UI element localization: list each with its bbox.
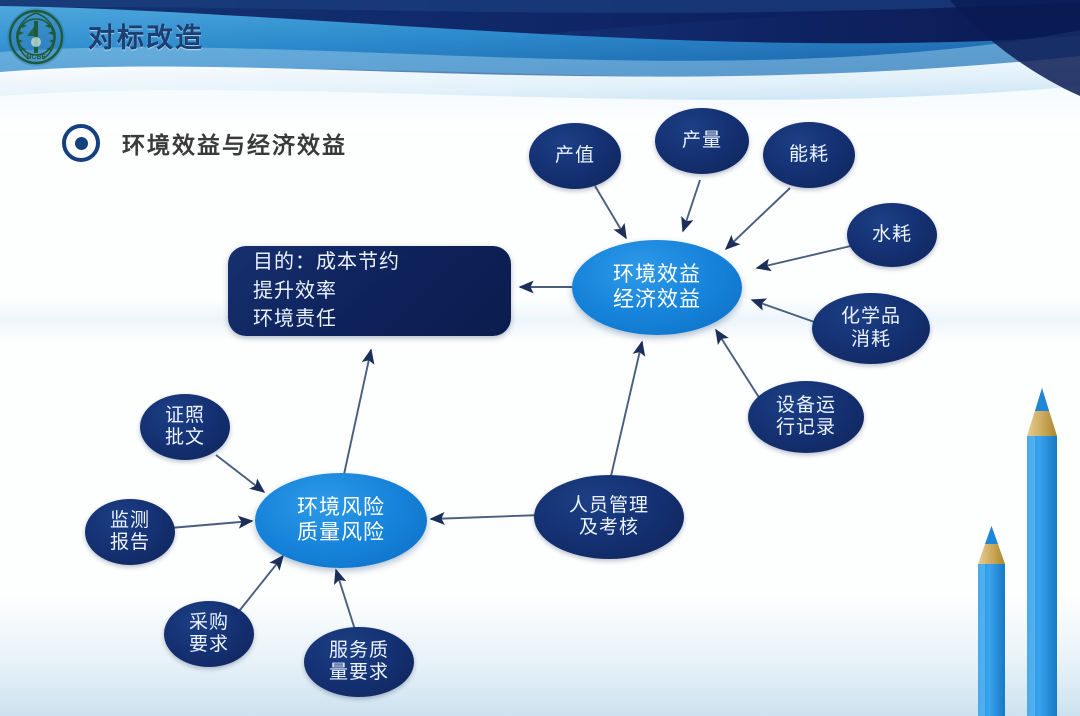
node-output-value[interactable]: 产值 (529, 123, 621, 189)
node-license-approval[interactable]: 证照 批文 (140, 394, 230, 460)
slide-canvas: NCBF 对标改造 环境效益与经济效益 (0, 0, 1080, 716)
pencil-icon-short (978, 526, 1005, 716)
pencil-decoration (950, 366, 1080, 716)
background-bottom-gradient (0, 596, 1080, 716)
node-chemical-consumption[interactable]: 化学品 消耗 (812, 293, 930, 364)
section-heading-label: 环境效益与经济效益 (122, 126, 347, 160)
institute-emblem-icon: NCBF (5, 6, 67, 68)
node-service-quality-requirement[interactable]: 服务质 量要求 (304, 627, 414, 697)
node-personnel-management-assessment[interactable]: 人员管理 及考核 (534, 475, 684, 559)
purpose-box-label: 目的：成本节约 提升效率 环境责任 (228, 248, 400, 333)
node-procurement-requirement[interactable]: 采购 要求 (164, 601, 254, 667)
page-title: 对标改造 (88, 16, 204, 55)
node-energy-consumption[interactable]: 能耗 (763, 122, 855, 188)
purpose-box[interactable]: 目的：成本节约 提升效率 环境责任 (228, 246, 511, 336)
pencil-icon-tall (1027, 388, 1057, 716)
svg-text:NCBF: NCBF (26, 54, 46, 61)
hub-environmental-quality-risk[interactable]: 环境风险 质量风险 (255, 473, 427, 568)
node-water-consumption[interactable]: 水耗 (847, 203, 937, 267)
node-production[interactable]: 产量 (655, 108, 749, 174)
hub-environmental-economic-benefit[interactable]: 环境效益 经济效益 (572, 240, 742, 335)
node-monitoring-report[interactable]: 监测 报告 (85, 499, 175, 565)
section-heading: 环境效益与经济效益 (62, 124, 347, 162)
ring-bullet-icon (62, 124, 100, 162)
node-equipment-operation-record[interactable]: 设备运 行记录 (748, 381, 864, 453)
